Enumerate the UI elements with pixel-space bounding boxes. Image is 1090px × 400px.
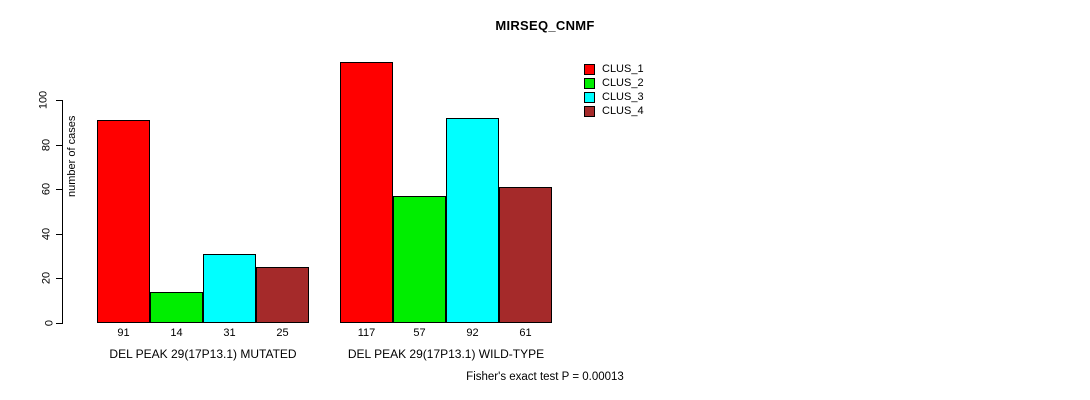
legend-swatch-icon	[584, 64, 595, 75]
y-axis-tick	[56, 189, 62, 190]
bar-clus_2-group1	[150, 292, 203, 323]
y-axis-tick	[56, 100, 62, 101]
bar-value-label: 92	[446, 328, 499, 339]
legend-swatch-icon	[584, 78, 595, 89]
bar-value-label: 61	[499, 328, 552, 339]
legend-item-label: CLUS_2	[602, 78, 644, 89]
bar-value-label: 57	[393, 328, 446, 339]
legend-swatch-icon	[584, 106, 595, 117]
y-axis-tick-label: 60	[41, 183, 52, 195]
legend-swatch-icon	[584, 92, 595, 103]
y-axis-tick-label: 0	[44, 320, 55, 326]
y-axis-tick	[56, 234, 62, 235]
y-axis-tick-label: 20	[41, 272, 52, 284]
y-axis-tick	[56, 323, 62, 324]
bar-clus_3-group2	[446, 118, 499, 323]
bar-clus_4-group1	[256, 267, 309, 323]
bar-clus_2-group2	[393, 196, 446, 323]
y-axis-tick	[56, 278, 62, 279]
legend-item-label: CLUS_3	[602, 92, 644, 103]
y-axis-tick-label: 80	[41, 138, 52, 150]
bar-value-label: 14	[150, 328, 203, 339]
statistical-annotation: Fisher's exact test P = 0.00013	[0, 371, 1090, 383]
y-axis-title: number of cases	[66, 116, 78, 197]
legend-item-label: CLUS_1	[602, 64, 644, 75]
legend-item-clus_1: CLUS_1	[584, 62, 644, 76]
group-label: DEL PEAK 29(17P13.1) WILD-TYPE	[340, 348, 552, 360]
y-axis-tick	[56, 145, 62, 146]
chart-title: MIRSEQ_CNMF	[0, 18, 1090, 33]
plot-area: 020406080100 number of cases 91143125DEL…	[62, 45, 562, 323]
chart-legend: CLUS_1CLUS_2CLUS_3CLUS_4	[584, 62, 644, 118]
bar-value-label: 91	[97, 328, 150, 339]
bar-clus_1-group1	[97, 120, 150, 323]
y-axis-line	[62, 100, 63, 324]
bar-clus_4-group2	[499, 187, 552, 323]
bar-value-label: 25	[256, 328, 309, 339]
bar-clus_3-group1	[203, 254, 256, 323]
y-axis-tick-label: 100	[38, 91, 49, 109]
bar-clus_1-group2	[340, 62, 393, 323]
chart-figure: MIRSEQ_CNMF 020406080100 number of cases…	[0, 0, 1090, 400]
y-axis-tick-label: 40	[41, 228, 52, 240]
legend-item-clus_3: CLUS_3	[584, 90, 644, 104]
group-label: DEL PEAK 29(17P13.1) MUTATED	[97, 348, 309, 360]
bar-value-label: 117	[340, 328, 393, 339]
legend-item-clus_4: CLUS_4	[584, 104, 644, 118]
legend-item-label: CLUS_4	[602, 106, 644, 117]
bar-value-label: 31	[203, 328, 256, 339]
legend-item-clus_2: CLUS_2	[584, 76, 644, 90]
